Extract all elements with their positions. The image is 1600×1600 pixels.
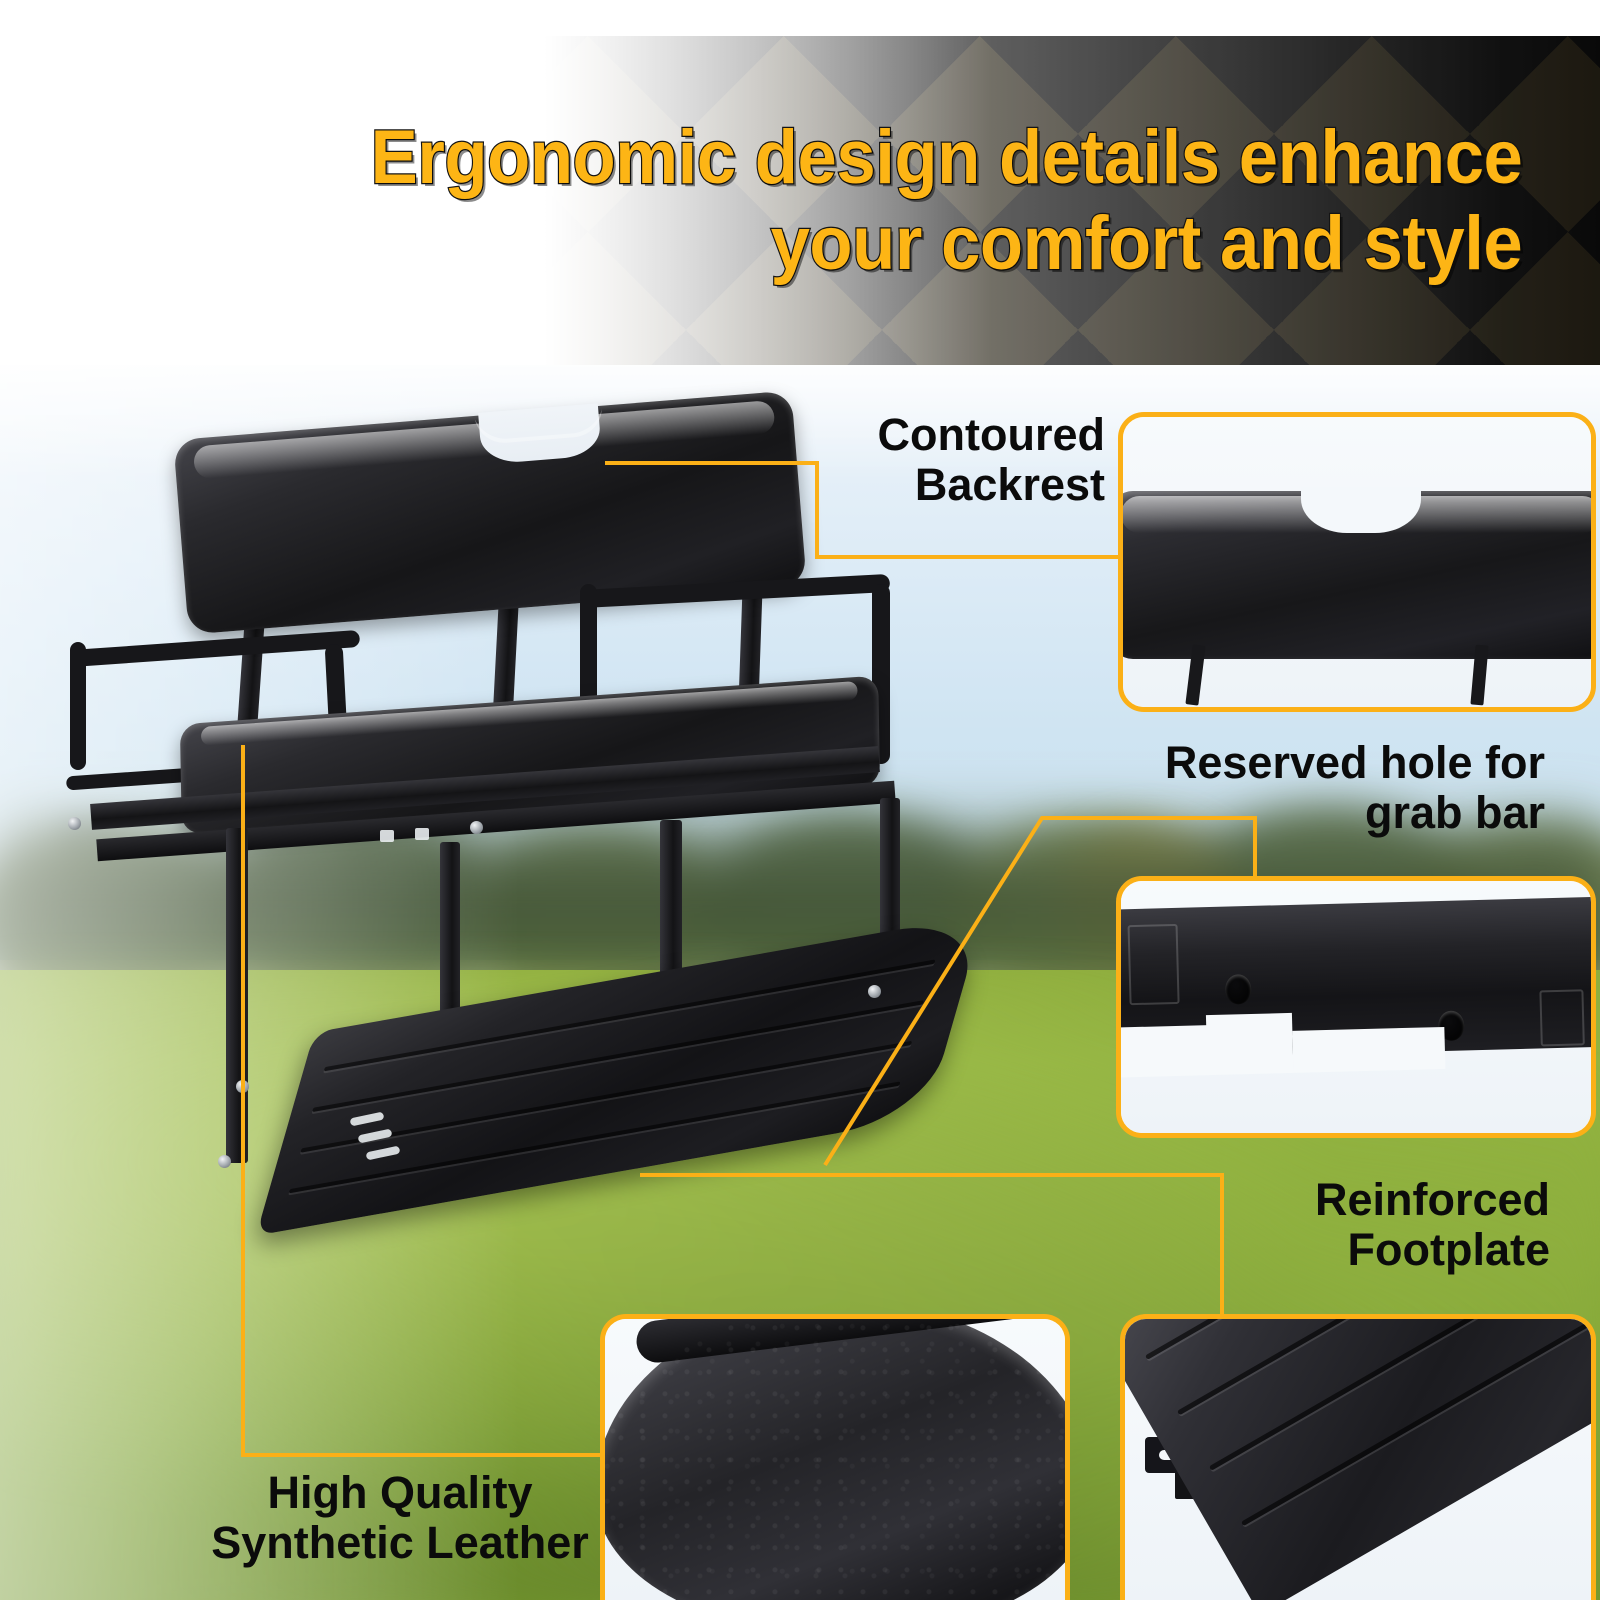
callout-label-reserved-hole-grab-bar: Reserved hole for grab bar [1165, 738, 1545, 837]
backrest-closeup [1118, 491, 1596, 659]
bracket-notch-cutout [1292, 1027, 1445, 1073]
backrest-contour-notch [478, 403, 602, 464]
frame-bolt [470, 821, 483, 834]
callout-line-2: grab bar [1165, 788, 1545, 838]
frame-bolt [68, 817, 81, 830]
rail-top-bar [70, 630, 360, 667]
callout-line-1: Contoured [878, 410, 1105, 460]
headline-line-2: your comfort and style [770, 201, 1522, 286]
footplate-detail-panel [1120, 1314, 1596, 1600]
rail-vertical-front [70, 642, 86, 770]
headline-line-1: Ergonomic design details enhance [370, 115, 1522, 200]
callout-label-reinforced-footplate: Reinforced Footplate [1315, 1175, 1550, 1274]
footplate-closeup-rib [1145, 1314, 1596, 1360]
callout-line-2: Footplate [1315, 1225, 1550, 1275]
bracket-rect-cutout [1128, 924, 1180, 1005]
callout-line-2: Backrest [878, 460, 1105, 510]
synthetic-leather-closeup [600, 1314, 1070, 1600]
callout-line-2: Synthetic Leather [205, 1518, 595, 1568]
top-white-strip [0, 0, 1600, 36]
callout-label-contoured-backrest: Contoured Backrest [878, 410, 1105, 509]
rail-top-bar [580, 574, 891, 608]
reinforced-footplate [256, 914, 984, 1235]
bracket-notch-cutout [1206, 1013, 1294, 1075]
leather-grain-texture [600, 1314, 1070, 1600]
footplate-bolt [868, 985, 881, 998]
page-title: Ergonomic design details enhance your co… [0, 36, 1600, 365]
infographic-canvas: Ergonomic design details enhance your co… [0, 0, 1600, 1600]
frame-slot [380, 830, 394, 842]
bracket-edge-tab [1539, 989, 1584, 1046]
callout-line-1: High Quality [205, 1468, 595, 1518]
backrest-detail-panel [1118, 412, 1596, 712]
bracket-notch-cutout [1116, 1025, 1209, 1077]
product-image-golf-cart-seat [40, 380, 1040, 1300]
reserved-hole [1225, 974, 1252, 1005]
footplate-closeup-rib [1209, 1314, 1596, 1471]
leather-detail-panel [600, 1314, 1070, 1600]
callout-line-1: Reinforced [1315, 1175, 1550, 1225]
grab-bar-detail-panel [1116, 876, 1596, 1138]
callout-line-1: Reserved hole for [1165, 738, 1545, 788]
grab-bar-bracket-closeup [1116, 896, 1596, 1059]
frame-slot [415, 828, 429, 840]
footplate-bolt [236, 1080, 249, 1093]
support-leg-1 [226, 828, 248, 1163]
footplate-bolt [218, 1155, 231, 1168]
callout-label-high-quality-synthetic-leather: High Quality Synthetic Leather [205, 1468, 595, 1567]
